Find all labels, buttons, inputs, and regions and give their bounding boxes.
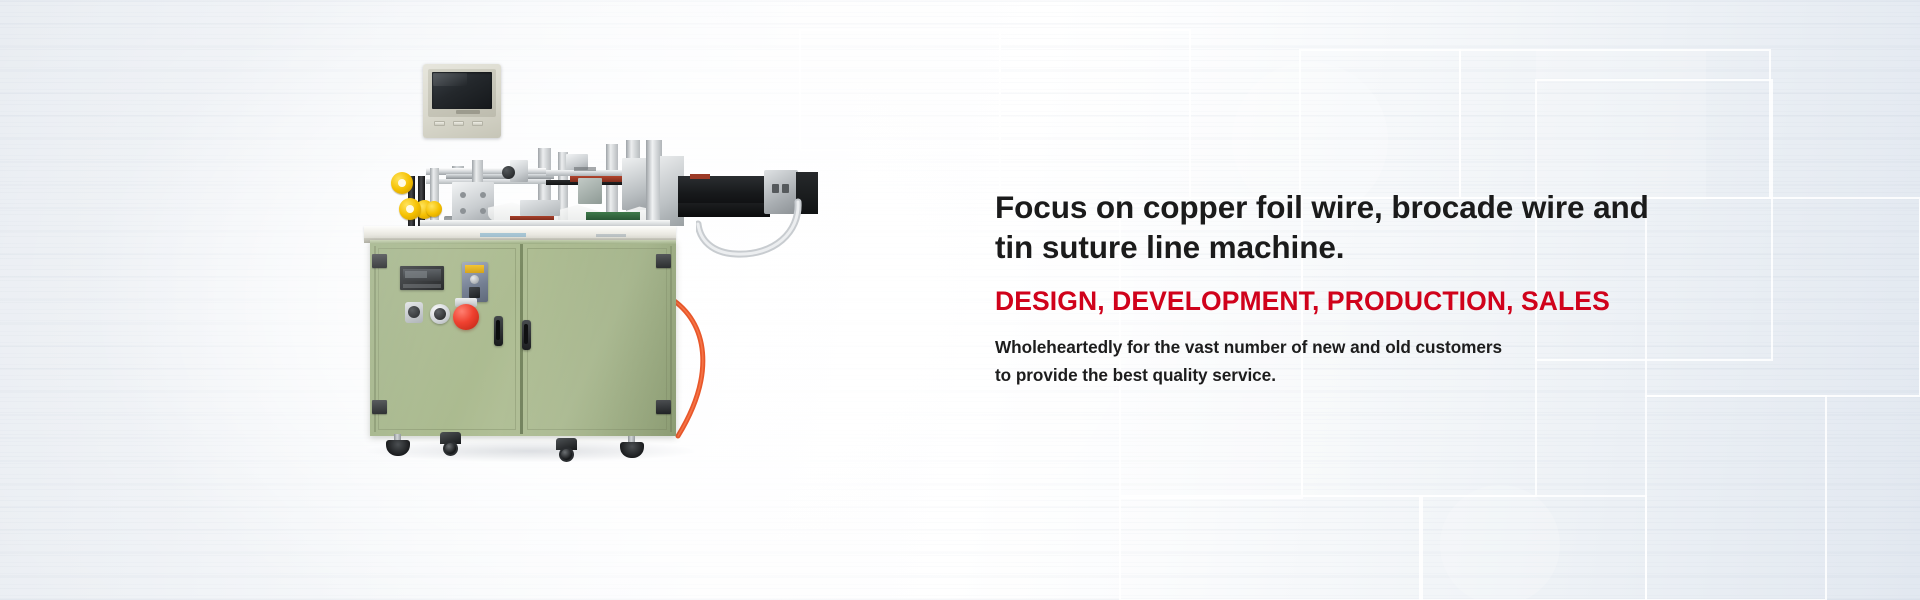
block-bolt-2	[480, 192, 486, 198]
grey-plate	[578, 178, 602, 204]
hmi-button-2	[453, 121, 464, 126]
gantry-block-e	[520, 200, 560, 216]
block-bolt-3	[460, 208, 466, 214]
output-arm-connector-2	[782, 184, 789, 193]
hmi-button-1	[434, 121, 445, 126]
floor-shadow	[366, 440, 696, 462]
product-machine-image	[360, 48, 840, 468]
gantry-rail-long	[446, 174, 554, 179]
banner-headline: Focus on copper foil wire, brocade wire …	[995, 188, 1815, 267]
worktable-blue-strip	[480, 233, 526, 237]
cabinet-sheen	[370, 240, 676, 436]
caster-2	[556, 438, 577, 461]
caster-1	[440, 432, 461, 455]
guide-pulley-2-hub	[406, 205, 414, 213]
hero-banner: Focus on copper foil wire, brocade wire …	[0, 0, 1920, 600]
adjustment-knob	[502, 166, 515, 179]
hmi-button-3	[472, 121, 483, 126]
output-arm-red-trim	[690, 174, 710, 179]
headline-line-2: tin suture line machine.	[995, 228, 1815, 268]
guide-pulley-1-hub	[398, 179, 406, 187]
banner-body-copy: Wholeheartedly for the vast number of ne…	[995, 334, 1815, 390]
hmi-screen-glare	[433, 73, 467, 86]
conduit-hose	[696, 198, 804, 264]
banner-tagline: DESIGN, DEVELOPMENT, PRODUCTION, SALES	[995, 286, 1815, 317]
gantry-block-a	[452, 182, 494, 222]
body-line-2: to provide the best quality service.	[995, 362, 1815, 390]
guide-pulley-4	[426, 201, 442, 217]
output-arm-connector-1	[772, 184, 779, 193]
hmi-brand-label	[456, 110, 480, 114]
machine-label-plate	[574, 167, 596, 171]
worktable-grey-strip	[596, 234, 626, 237]
body-line-1: Wholeheartedly for the vast number of ne…	[995, 337, 1502, 357]
headline-line-1: Focus on copper foil wire, brocade wire …	[995, 189, 1649, 225]
banner-copy: Focus on copper foil wire, brocade wire …	[995, 188, 1815, 390]
block-bolt-1	[460, 192, 466, 198]
block-bolt-4	[480, 208, 486, 214]
